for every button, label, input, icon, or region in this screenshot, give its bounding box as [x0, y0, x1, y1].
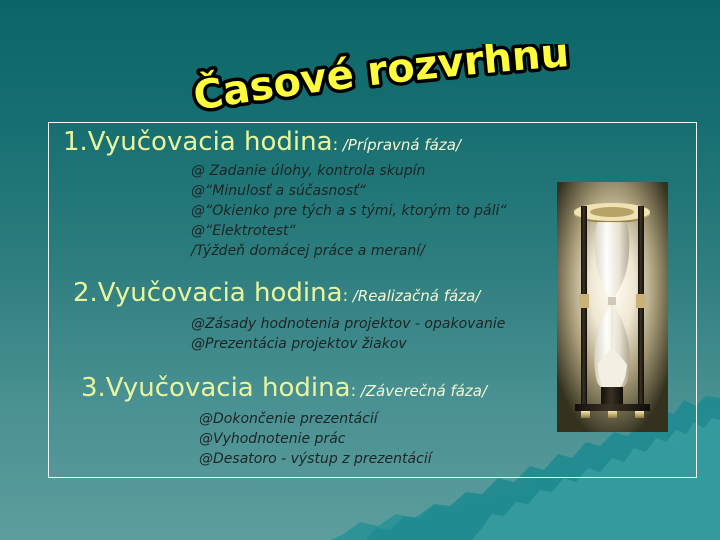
list-item: @“Minulosť a súčasnosť“: [191, 182, 559, 202]
list-item: @ Zadanie úlohy, kontrola skupín: [191, 162, 559, 182]
section-2-bullet-list: @Zásady hodnotenia projektov - opakovani…: [73, 315, 559, 355]
section-3-heading-separator: :: [351, 381, 357, 401]
section-3: 3.Vyučovacia hodina: /Záverečná fáza/ @D…: [59, 375, 559, 470]
slide: Časové rozvrhnutie projektu Časové rozvr…: [0, 0, 720, 540]
list-item: @Desatoro - výstup z prezentácií: [199, 450, 559, 470]
list-item: /Týždeň domácej práce a meraní/: [191, 242, 559, 262]
section-2-heading-title: 2.Vyučovacia hodina: [73, 278, 343, 308]
wordart-title-graphic: Časové rozvrhnutie projektu Časové rozvr…: [0, 44, 720, 120]
list-item: @Zásady hodnotenia projektov - opakovani…: [191, 315, 559, 335]
slide-title: Časové rozvrhnutie projektu Časové rozvr…: [0, 44, 720, 120]
section-1: 1.Vyučovacia hodina: /Prípravná fáza/ @ …: [59, 129, 559, 262]
list-item: @“Elektrotest“: [191, 222, 559, 242]
section-2-heading-separator: :: [343, 286, 349, 306]
section-3-heading-title: 3.Vyučovacia hodina: [81, 373, 351, 403]
section-1-phase-label: /Prípravná fáza/: [343, 136, 461, 154]
section-3-phase-label: /Záverečná fáza/: [361, 382, 487, 400]
section-1-heading: 1.Vyučovacia hodina: /Prípravná fáza/: [63, 129, 559, 156]
section-1-bullet-list: @ Zadanie úlohy, kontrola skupín @“Minul…: [63, 162, 559, 261]
hourglass-icon: [557, 182, 668, 432]
section-1-heading-separator: :: [333, 135, 339, 155]
text-column: 1.Vyučovacia hodina: /Prípravná fáza/ @ …: [59, 125, 559, 470]
wordart-title-fill-text: Časové rozvrhnutie projektu: [0, 44, 571, 120]
list-item: @“Okienko pre tých a s tými, ktorým to p…: [191, 202, 559, 222]
section-2-heading: 2.Vyučovacia hodina: /Realizačná fáza/: [73, 280, 559, 307]
section-3-bullet-list: @Dokončenie prezentácií @Vyhodnotenie pr…: [81, 410, 559, 470]
section-1-heading-title: 1.Vyučovacia hodina: [63, 127, 333, 157]
list-item: @Dokončenie prezentácií: [199, 410, 559, 430]
list-item: @Vyhodnotenie prác: [199, 430, 559, 450]
wordart-title-fill: Časové rozvrhnutie projektu: [0, 44, 571, 120]
section-2: 2.Vyučovacia hodina: /Realizačná fáza/ @…: [59, 280, 559, 355]
section-3-heading: 3.Vyučovacia hodina: /Záverečná fáza/: [81, 375, 559, 402]
hourglass-image: [557, 182, 668, 432]
list-item: @Prezentácia projektov žiakov: [191, 335, 559, 355]
section-2-phase-label: /Realizačná fáza/: [353, 287, 481, 305]
